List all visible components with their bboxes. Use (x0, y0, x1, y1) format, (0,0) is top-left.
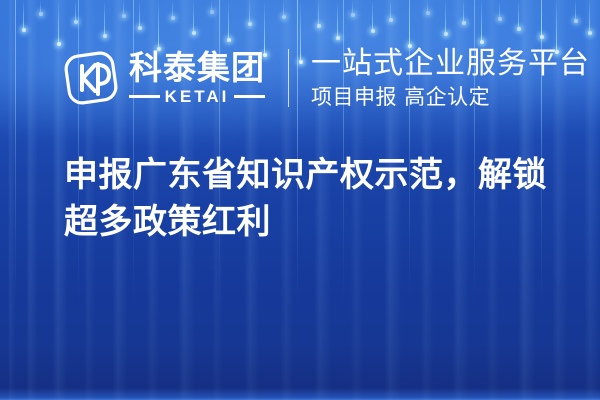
falling-light-streak (211, 0, 212, 12)
falling-light-streak (481, 0, 482, 42)
tagline-main: 一站式企业服务平台 (311, 48, 590, 80)
falling-light-streak (193, 0, 194, 33)
falling-light-streak (445, 0, 446, 34)
falling-light-streak (589, 0, 590, 33)
wordmark-dash-left (129, 95, 160, 98)
banner-header: 科泰集团 KETAI 一站式企业服务平台 项目申报 高企认定 (0, 44, 600, 112)
header-divider (288, 49, 289, 107)
brand-name-cn: 科泰集团 (129, 51, 265, 84)
falling-light-streak (390, 0, 391, 20)
falling-light-streak (283, 0, 284, 17)
falling-light-streak (352, 0, 353, 15)
falling-light-streak (318, 0, 319, 26)
wordmark-dash-right (234, 95, 265, 98)
falling-light-streak (249, 0, 250, 24)
brand-name-en-row: KETAI (129, 88, 265, 105)
falling-light-streak (172, 0, 173, 18)
falling-light-streak (463, 0, 464, 23)
falling-light-streak (23, 0, 24, 30)
falling-light-streak (337, 0, 338, 38)
tagline-block: 一站式企业服务平台 项目申报 高企认定 (311, 48, 590, 108)
brand-wordmark: 科泰集团 KETAI (129, 51, 265, 105)
ketai-kp-diamond-logo-icon (62, 50, 120, 106)
falling-light-streak (372, 0, 373, 31)
falling-light-streak (409, 0, 410, 46)
tagline-sub: 项目申报 高企认定 (311, 86, 590, 108)
falling-light-streak (139, 0, 140, 28)
falling-light-streak (58, 0, 59, 44)
falling-light-streak (499, 0, 500, 19)
falling-light-streak (575, 0, 576, 21)
brand-name-en: KETAI (165, 88, 230, 105)
falling-light-streak (158, 0, 159, 49)
falling-light-streak (40, 0, 41, 14)
falling-light-streak (228, 0, 229, 40)
falling-light-streak (123, 0, 124, 16)
falling-light-streak (541, 0, 542, 37)
brand-logo[interactable]: 科泰集团 KETAI (62, 44, 265, 112)
falling-light-streak (427, 0, 428, 13)
falling-light-streak (518, 0, 519, 29)
headline-text: 申报广东省知识产权示范，解锁超多政策红利 (64, 152, 564, 246)
falling-light-streak (104, 0, 105, 36)
falling-light-streak (75, 0, 76, 22)
promo-banner: 科泰集团 KETAI 一站式企业服务平台 项目申报 高企认定 申报广东省知识产权… (0, 0, 600, 400)
